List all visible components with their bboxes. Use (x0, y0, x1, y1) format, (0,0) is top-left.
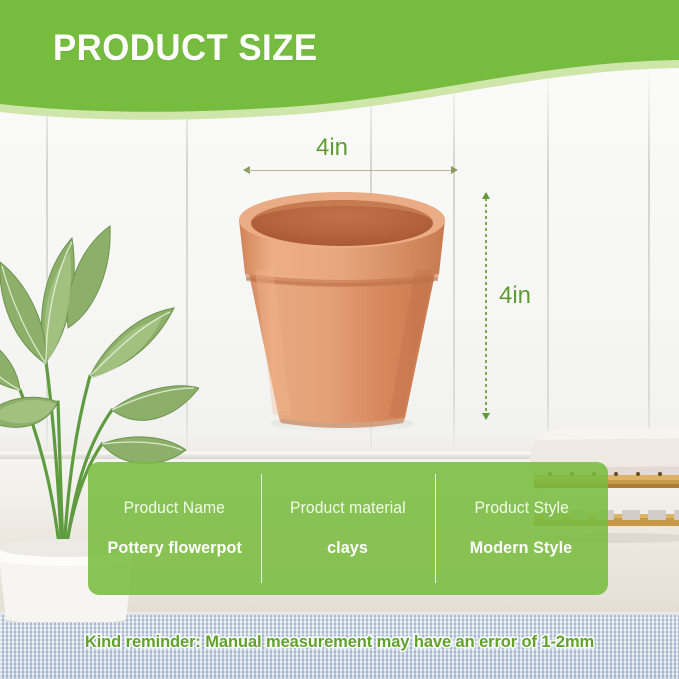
dimension-rule (248, 170, 453, 171)
product-size-infographic: PRODUCT SIZE 4in 4in Product Name Potter… (0, 0, 679, 679)
arrow-right-icon (451, 166, 458, 174)
dimension-rule (485, 198, 487, 414)
spec-column-product-style: Product Style Modern Style (435, 462, 608, 595)
spec-column-product-material: Product material clays (261, 462, 434, 595)
width-dimension-line (243, 165, 458, 177)
reminder-text: Kind reminder: Manual measurement may ha… (10, 632, 669, 652)
spec-value: Pottery flowerpot (107, 538, 241, 558)
header-banner: PRODUCT SIZE (0, 0, 679, 132)
spec-value: Modern Style (470, 538, 573, 558)
page-title: PRODUCT SIZE (53, 27, 318, 69)
width-label: 4in (316, 134, 348, 162)
spec-column-product-name: Product Name Pottery flowerpot (88, 462, 261, 595)
terracotta-flowerpot (225, 178, 460, 438)
height-dimension-line (480, 192, 492, 420)
height-label: 4in (499, 282, 531, 310)
spec-header: Product Name (124, 499, 225, 518)
spec-value: clays (328, 538, 369, 558)
spec-header: Product material (290, 499, 406, 518)
arrow-down-icon (482, 413, 490, 420)
spec-table: Product Name Pottery flowerpot Product m… (88, 462, 608, 595)
spec-header: Product Style (474, 499, 568, 518)
